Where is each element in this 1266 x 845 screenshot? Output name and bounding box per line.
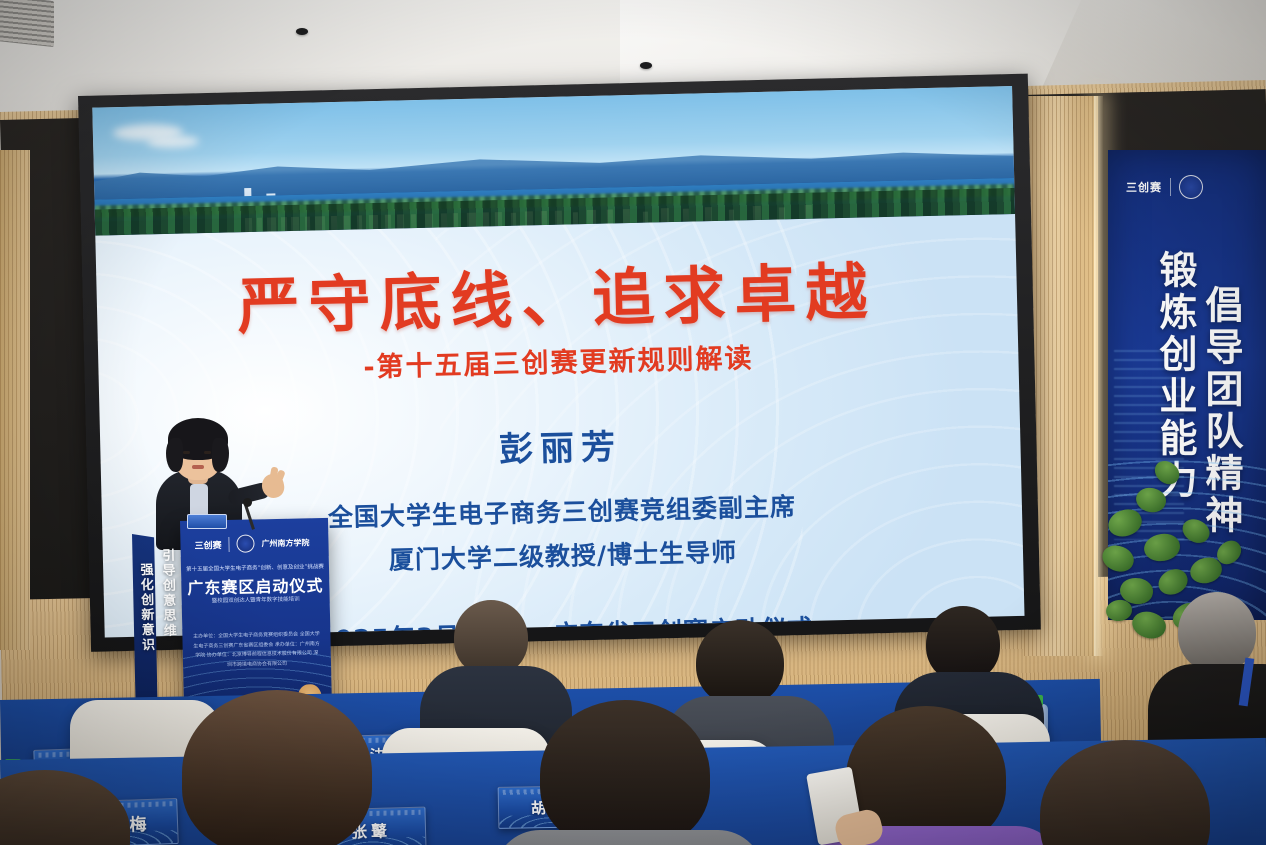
speaker-eye-left <box>183 451 190 454</box>
wood-column-left <box>0 150 30 650</box>
speaker-shirt <box>190 484 208 518</box>
speaker-eye-right <box>204 451 211 454</box>
podium-logo-row: 三创赛 广州南方学院 <box>194 530 316 557</box>
speaker-hair-left <box>166 438 183 472</box>
podium: 三创赛 广州南方学院 第十五届全国大学生电子商务“创新、创意及创业”挑战赛 广东… <box>180 518 332 721</box>
audience-shoulders <box>494 830 764 845</box>
podium-university-name: 广州南方学院 <box>261 537 309 549</box>
banner-logo-row: 三创赛 <box>1126 172 1248 202</box>
podium-org-mark: 三创赛 <box>194 538 221 552</box>
audience-head <box>182 690 372 845</box>
divider <box>1170 178 1171 196</box>
banner-org-mark: 三创赛 <box>1126 179 1162 195</box>
divider <box>228 536 229 551</box>
air-vent-icon <box>0 0 54 47</box>
slide-speaker-name: 彭丽芳 <box>100 410 1021 481</box>
cityscape-header-image <box>92 86 1015 236</box>
audience-head <box>696 620 784 706</box>
podium-footer-credits: 主办单位：全国大学生电子商务竞赛组织委员会 全国大学生电子商务三创赛广东省赛区组… <box>192 630 321 671</box>
ceiling-spotlight <box>296 28 308 35</box>
podium-line-below: 暨校园双创达人暨青年数字技能培训 <box>182 594 330 605</box>
conference-photo-scene: 严守底线、追求卓越 -第十五届三创赛更新规则解读 彭丽芳 全国大学生电子商务三创… <box>0 0 1266 845</box>
university-seal-icon <box>236 534 254 552</box>
cloud <box>147 135 199 148</box>
strapline-left: 强化创新意识 <box>135 563 156 653</box>
audience-head <box>540 700 710 845</box>
strapline-right: 引导创意思维 <box>157 548 178 638</box>
audience-head <box>926 606 1000 682</box>
podium-line-above: 第十五届全国大学生电子商务“创新、创意及创业”挑战赛 <box>181 562 329 573</box>
university-seal-icon <box>1179 175 1203 199</box>
audience-head <box>454 600 528 676</box>
microphone-icon <box>243 498 252 507</box>
ceiling-spotlight <box>640 62 652 69</box>
speaker-mouth <box>192 465 204 469</box>
speaker-name-badge <box>187 514 227 529</box>
